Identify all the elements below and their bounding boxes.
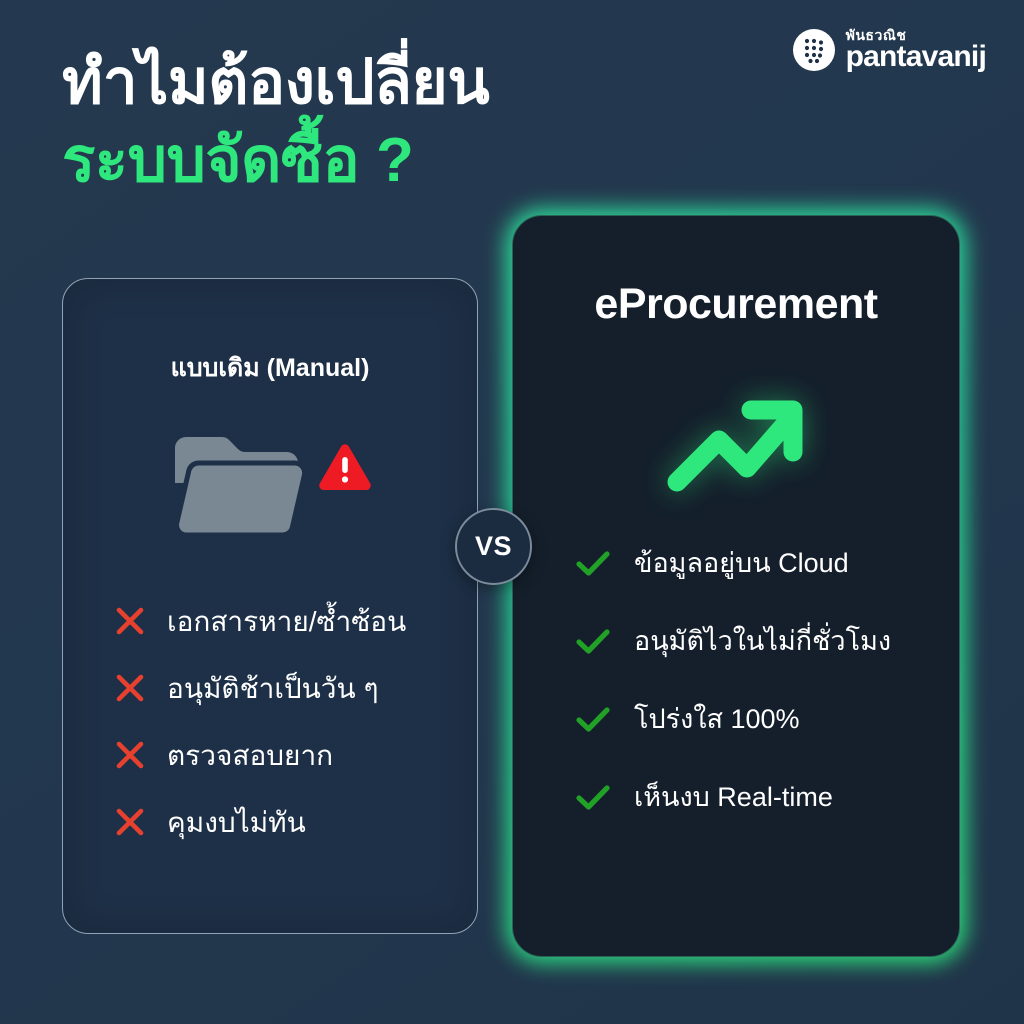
brand-logo: พันธวณิช pantavanij xyxy=(793,28,986,72)
brand-latin-name: pantavanij xyxy=(846,43,986,72)
manual-items-list: เอกสารหาย/ซ้ำซ้อน อนุมัติช้าเป็นวัน ๆ ตร… xyxy=(109,600,453,843)
headline: ทำไมต้องเปลี่ยน ระบบจัดซื้อ ? xyxy=(62,52,489,192)
list-item: โปร่งใส 100% xyxy=(576,703,935,737)
x-mark-icon xyxy=(109,600,151,642)
manual-card-title: แบบเดิม (Manual) xyxy=(63,348,477,388)
list-item-label: เห็นงบ Real-time xyxy=(634,781,833,815)
eproc-card-title: eProcurement xyxy=(513,280,959,329)
headline-line-2: ระบบจัดซื้อ ? xyxy=(62,130,489,192)
eproc-items-list: ข้อมูลอยู่บน Cloud อนุมัติไวในไม่กี่ชั่ว… xyxy=(576,547,935,815)
manual-hero-icons xyxy=(63,419,477,549)
list-item-label: ข้อมูลอยู่บน Cloud xyxy=(634,547,849,581)
eproc-card: eProcurement ข้อมูลอยู่บน Cloud xyxy=(512,215,960,957)
folder-icon xyxy=(167,426,317,542)
pantavanij-dotgrid-icon xyxy=(793,29,835,71)
x-mark-icon xyxy=(109,801,151,843)
check-mark-icon xyxy=(576,547,610,581)
list-item: ตรวจสอบยาก xyxy=(109,734,453,776)
list-item-label: อนุมัติไวในไม่กี่ชั่วโมง xyxy=(634,625,891,659)
list-item: อนุมัติไวในไม่กี่ชั่วโมง xyxy=(576,625,935,659)
list-item-label: คุมงบไม่ทัน xyxy=(167,805,306,840)
check-mark-icon xyxy=(576,625,610,659)
infographic-canvas: พันธวณิช pantavanij ทำไมต้องเปลี่ยน ระบบ… xyxy=(0,0,1024,1024)
eproc-card-wrapper: eProcurement ข้อมูลอยู่บน Cloud xyxy=(512,215,960,957)
list-item: อนุมัติช้าเป็นวัน ๆ xyxy=(109,667,453,709)
trending-up-arrow-icon xyxy=(663,386,809,496)
headline-line-1: ทำไมต้องเปลี่ยน xyxy=(62,52,489,114)
check-mark-icon xyxy=(576,703,610,737)
list-item: ข้อมูลอยู่บน Cloud xyxy=(576,547,935,581)
brand-wordmark: พันธวณิช pantavanij xyxy=(846,28,986,72)
x-mark-icon xyxy=(109,667,151,709)
list-item: คุมงบไม่ทัน xyxy=(109,801,453,843)
vs-badge: VS xyxy=(455,508,532,585)
list-item: เอกสารหาย/ซ้ำซ้อน xyxy=(109,600,453,642)
eproc-hero-icon xyxy=(513,376,959,506)
manual-card: แบบเดิม (Manual) เอกสารหาย/ซ้ำซ้อน xyxy=(62,278,478,934)
list-item: เห็นงบ Real-time xyxy=(576,781,935,815)
x-mark-icon xyxy=(109,734,151,776)
dotgrid-glyph xyxy=(793,29,835,71)
vs-label: VS xyxy=(475,531,512,562)
list-item-label: อนุมัติช้าเป็นวัน ๆ xyxy=(167,671,379,706)
list-item-label: ตรวจสอบยาก xyxy=(167,738,333,773)
list-item-label: เอกสารหาย/ซ้ำซ้อน xyxy=(167,604,406,639)
warning-triangle-icon xyxy=(317,442,373,492)
list-item-label: โปร่งใส 100% xyxy=(634,703,800,737)
check-mark-icon xyxy=(576,781,610,815)
